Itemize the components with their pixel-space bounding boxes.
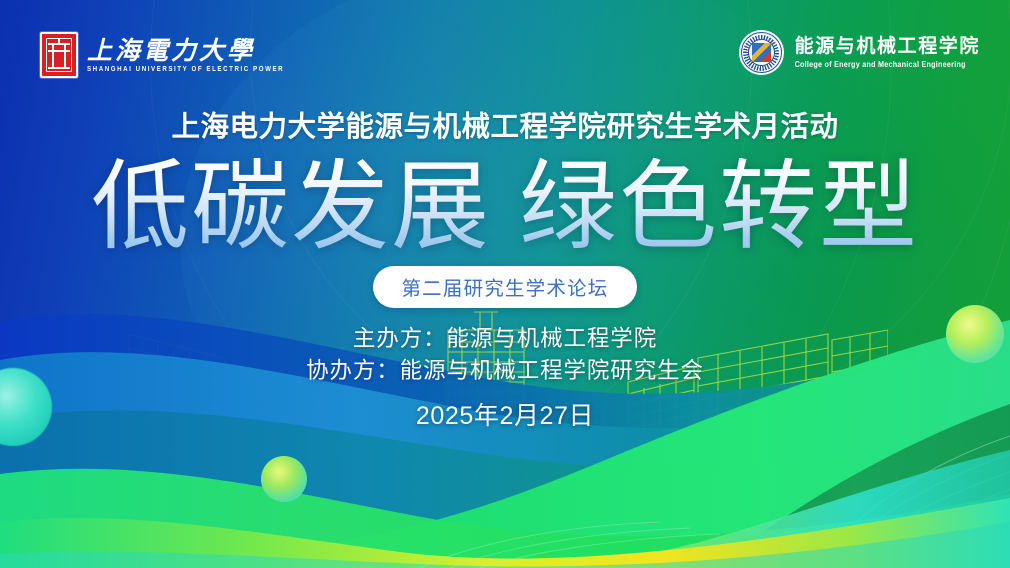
headline-part1: 低碳发展 xyxy=(91,150,491,264)
cohost-line: 协办方：能源与机械工程学院研究生会 xyxy=(0,355,1010,387)
suep-en-name: SHANGHAI UNIVERSITY OF ELECTRIC POWER xyxy=(87,65,284,73)
event-date: 2025年2月27日 xyxy=(0,396,1010,432)
forum-badge: 第二届研究生学术论坛 xyxy=(373,266,636,308)
headline-part2: 绿色转型 xyxy=(519,150,919,264)
college-cn-name: 能源与机械工程学院 xyxy=(795,37,980,56)
event-info: 主办方：能源与机械工程学院 协办方：能源与机械工程学院研究生会 2025年2月2… xyxy=(0,323,1010,432)
event-title: 上海电力大学能源与机械工程学院研究生学术月活动 xyxy=(169,108,841,146)
college-en-name: College of Energy and Mechanical Enginee… xyxy=(795,59,980,69)
host-line: 主办方：能源与机械工程学院 xyxy=(0,323,1010,355)
poster-banner: 上海電力大學 SHANGHAI UNIVERSITY OF ELECTRIC P… xyxy=(0,0,1010,568)
poster-header: 上海電力大學 SHANGHAI UNIVERSITY OF ELECTRIC P… xyxy=(0,0,1010,105)
college-emblem-icon xyxy=(739,30,784,75)
suep-seal-icon xyxy=(40,32,78,78)
lime-sphere-center xyxy=(261,456,307,502)
suep-logo: 上海電力大學 SHANGHAI UNIVERSITY OF ELECTRIC P… xyxy=(40,32,284,78)
poster-content: 上海电力大学能源与机械工程学院研究生学术月活动 低碳发展绿色转型 第二届研究生学… xyxy=(0,108,1010,432)
headline: 低碳发展绿色转型 xyxy=(0,158,1010,258)
college-logo: 能源与机械工程学院 College of Energy and Mechanic… xyxy=(739,30,980,75)
suep-cn-name: 上海電力大學 xyxy=(87,38,284,63)
